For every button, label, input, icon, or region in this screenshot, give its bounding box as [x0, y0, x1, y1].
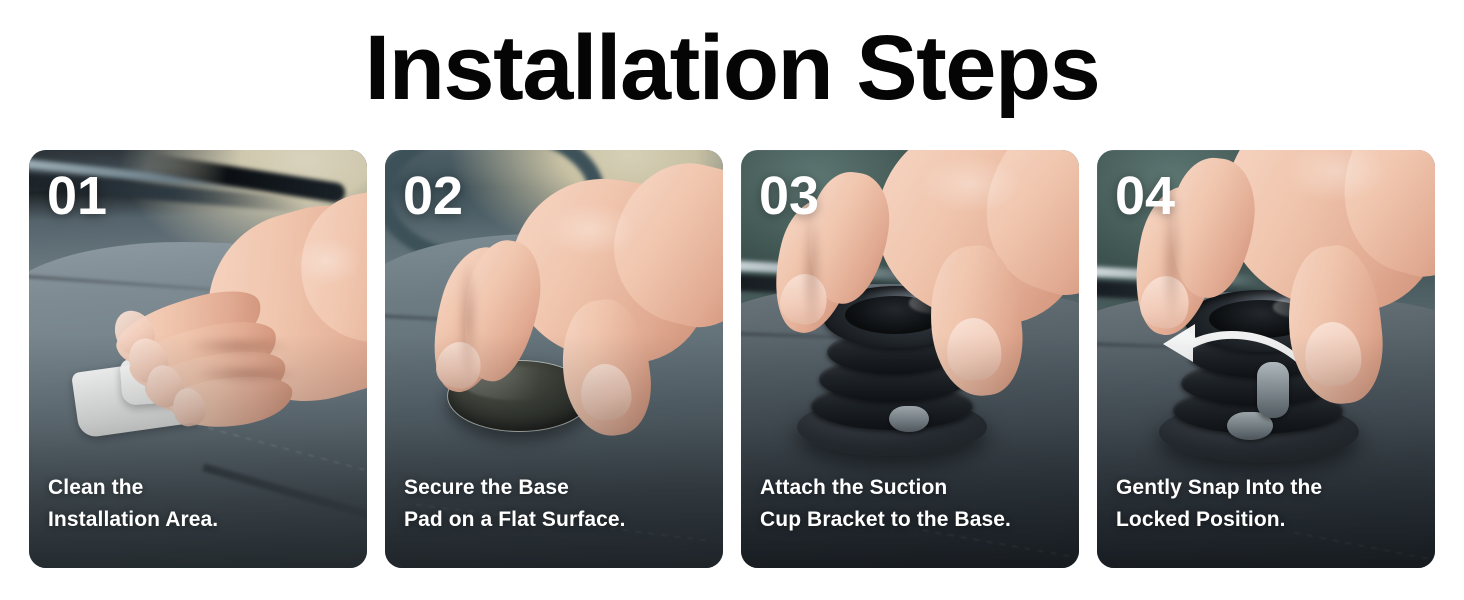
- caption-line-1: Attach the Suction: [760, 472, 1065, 504]
- step-number: 03: [759, 164, 819, 228]
- knuckle-highlight: [287, 238, 367, 296]
- step-caption: Gently Snap Into the Locked Position.: [1116, 472, 1421, 536]
- caption-line-1: Gently Snap Into the: [1116, 472, 1421, 504]
- step-caption: Attach the Suction Cup Bracket to the Ba…: [760, 472, 1065, 536]
- caption-line-2: Cup Bracket to the Base.: [760, 504, 1065, 536]
- step-number: 04: [1115, 164, 1175, 228]
- step-card-02[interactable]: 02 Secure the Base Pad on a Flat Surface…: [385, 150, 723, 568]
- knuckle-highlight: [911, 156, 1031, 226]
- steps-card-row: 01 Clean the Installation Area.: [29, 150, 1435, 568]
- finger-separation-shade: [799, 210, 825, 330]
- caption-line-2: Installation Area.: [48, 504, 353, 536]
- caption-line-2: Locked Position.: [1116, 504, 1421, 536]
- step-card-01[interactable]: 01 Clean the Installation Area.: [29, 150, 367, 568]
- installation-steps-graphic: Installation Steps: [0, 0, 1464, 600]
- step-caption: Clean the Installation Area.: [48, 472, 353, 536]
- caption-line-2: Pad on a Flat Surface.: [404, 504, 709, 536]
- page-title: Installation Steps: [0, 12, 1464, 124]
- caption-line-1: Clean the: [48, 472, 353, 504]
- step-number: 01: [47, 164, 107, 228]
- knuckle-highlight: [535, 204, 645, 268]
- step-number: 02: [403, 164, 463, 228]
- step-caption: Secure the Base Pad on a Flat Surface.: [404, 472, 709, 536]
- step-card-03[interactable]: 03 Attach the Suction Cup Bracket to the…: [741, 150, 1079, 568]
- caption-line-1: Secure the Base: [404, 472, 709, 504]
- step-card-04[interactable]: 04 Gently Snap Into the Locked Position.: [1097, 150, 1435, 568]
